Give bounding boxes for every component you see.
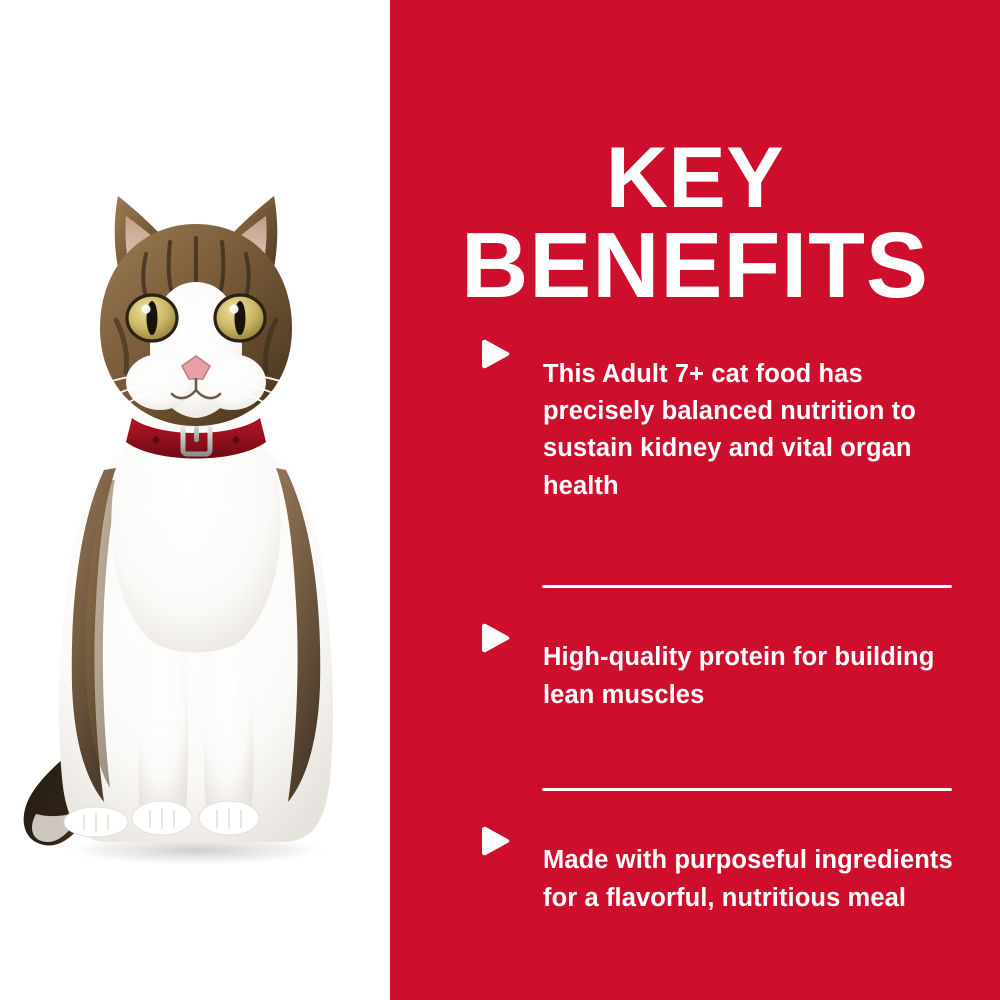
benefit-divider-2 bbox=[542, 788, 952, 791]
headline-line-1: KEY bbox=[390, 136, 1000, 220]
benefits-list: This Adult 7+ cat food has precisely bal… bbox=[390, 330, 1000, 943]
cat-eye-left bbox=[127, 295, 177, 341]
page-title: KEY BENEFITS bbox=[390, 136, 1000, 311]
cat-photo bbox=[0, 150, 390, 880]
benefit-text-2: High-quality protein for building lean m… bbox=[543, 639, 953, 714]
benefit-text-1: This Adult 7+ cat food has precisely bal… bbox=[543, 356, 953, 506]
headline-line-2: BENEFITS bbox=[390, 220, 1000, 311]
benefit-item-1: This Adult 7+ cat food has precisely bal… bbox=[390, 330, 1000, 531]
benefit-item-2: High-quality protein for building lean m… bbox=[390, 614, 1000, 740]
benefit-divider-1 bbox=[542, 585, 952, 588]
triangle-right-icon bbox=[478, 623, 512, 653]
benefit-item-3: Made with purposeful ingredients for a f… bbox=[390, 817, 1000, 943]
triangle-right-icon bbox=[478, 826, 512, 856]
benefits-panel: KEY BENEFITS This Adult 7+ cat food has … bbox=[390, 0, 1000, 1000]
triangle-right-icon bbox=[478, 339, 512, 369]
cat-eye-right bbox=[215, 295, 265, 341]
key-benefits-banner: KEY BENEFITS This Adult 7+ cat food has … bbox=[0, 0, 1000, 1000]
benefit-text-3: Made with purposeful ingredients for a f… bbox=[543, 842, 953, 917]
cat-image-panel bbox=[0, 0, 390, 1000]
